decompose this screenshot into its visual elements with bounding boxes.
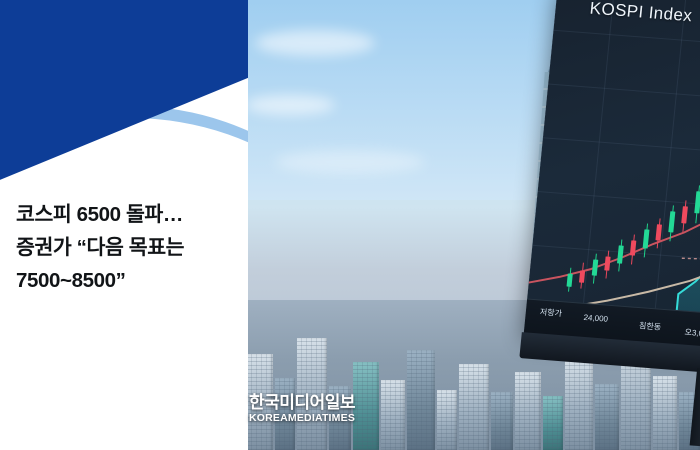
building bbox=[491, 392, 513, 450]
headline-line-1: 코스피 6500 돌파… bbox=[16, 198, 240, 231]
watermark-korean: 한국미디어일보 bbox=[236, 388, 368, 413]
ticker-item: 오3,00턴 bbox=[684, 327, 700, 340]
ticker-item: 침한동 bbox=[639, 320, 662, 333]
ticker-item: 저항가 bbox=[539, 307, 562, 320]
building bbox=[565, 358, 593, 450]
building bbox=[515, 372, 541, 450]
building bbox=[595, 384, 619, 450]
building bbox=[407, 350, 435, 450]
cloud bbox=[245, 95, 335, 115]
cloud bbox=[275, 150, 425, 174]
building bbox=[459, 364, 489, 450]
building bbox=[381, 380, 405, 450]
page-title: 코스피 6500 돌파… 증권가 “다음 목표는 7500~8500” bbox=[16, 198, 240, 298]
building bbox=[543, 396, 563, 450]
watermark-english: KOREAMEDIATIMES bbox=[236, 412, 368, 424]
building bbox=[653, 376, 677, 450]
headline-line-3: 7500~8500” bbox=[16, 264, 240, 297]
ticker-item: 24,000 bbox=[583, 313, 608, 324]
building bbox=[437, 390, 457, 450]
cloud bbox=[255, 30, 375, 56]
trading-screen: KOSPI Index bbox=[524, 0, 700, 367]
photo-scene: KOSPI Index bbox=[245, 0, 700, 450]
watermark: 한국미디어일보 KOREAMEDIATIMES bbox=[236, 388, 368, 424]
headline-line-2: 증권가 “다음 목표는 bbox=[16, 231, 240, 264]
news-card: KOSPI Index bbox=[0, 0, 700, 450]
headline-panel: 코스피 6500 돌파… 증권가 “다음 목표는 7500~8500” bbox=[0, 0, 248, 450]
